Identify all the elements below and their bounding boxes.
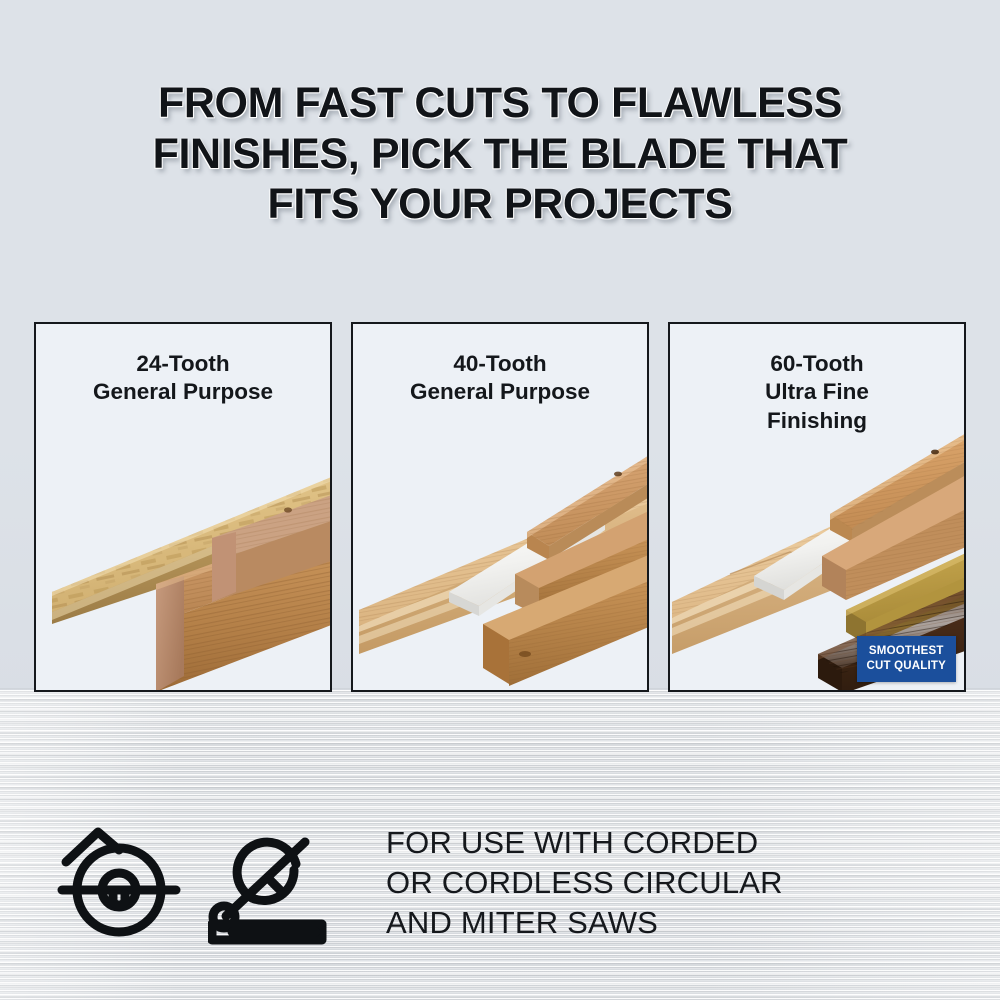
footer-icon-group (56, 820, 334, 946)
headline-line-3: FITS YOUR PROJECTS (0, 179, 1000, 230)
card-title-line-3: Finishing (670, 407, 964, 435)
badge-line-1: SMOOTHEST (867, 644, 947, 658)
card-title-24-tooth: 24-Tooth General Purpose (36, 324, 330, 407)
card-title-line-1: 60-Tooth (670, 350, 964, 378)
compatibility-text: FOR USE WITH CORDED OR CORDLESS CIRCULAR… (386, 823, 783, 944)
product-card-40-tooth[interactable]: 40-Tooth General Purpose (351, 322, 649, 692)
compatibility-footer: FOR USE WITH CORDED OR CORDLESS CIRCULAR… (0, 808, 1000, 958)
footer-line-3: AND MITER SAWS (386, 903, 783, 943)
card-title-40-tooth: 40-Tooth General Purpose (353, 324, 647, 407)
card-title-line-2: General Purpose (353, 378, 647, 406)
headline-line-2: FINISHES, PICK THE BLADE THAT (0, 129, 1000, 180)
badge-line-2: CUT QUALITY (867, 659, 947, 673)
card-title-line-2: General Purpose (36, 378, 330, 406)
headline: FROM FAST CUTS TO FLAWLESS FINISHES, PIC… (0, 78, 1000, 230)
card-title-line-1: 40-Tooth (353, 350, 647, 378)
product-card-row: 24-Tooth General Purpose (34, 322, 966, 692)
infographic-root: FROM FAST CUTS TO FLAWLESS FINISHES, PIC… (0, 0, 1000, 1000)
footer-line-1: FOR USE WITH CORDED (386, 823, 783, 863)
circular-saw-icon (56, 820, 182, 946)
product-card-24-tooth[interactable]: 24-Tooth General Purpose (34, 322, 332, 692)
card-title-60-tooth: 60-Tooth Ultra Fine Finishing (670, 324, 964, 435)
card-title-line-2: Ultra Fine (670, 378, 964, 406)
card-title-line-1: 24-Tooth (36, 350, 330, 378)
footer-line-2: OR CORDLESS CIRCULAR (386, 863, 783, 903)
headline-line-1: FROM FAST CUTS TO FLAWLESS (0, 78, 1000, 129)
status-badge-smoothest-cut-quality: SMOOTHEST CUT QUALITY (857, 636, 957, 682)
product-card-60-tooth[interactable]: 60-Tooth Ultra Fine Finishing (668, 322, 966, 692)
miter-saw-icon (208, 820, 334, 946)
